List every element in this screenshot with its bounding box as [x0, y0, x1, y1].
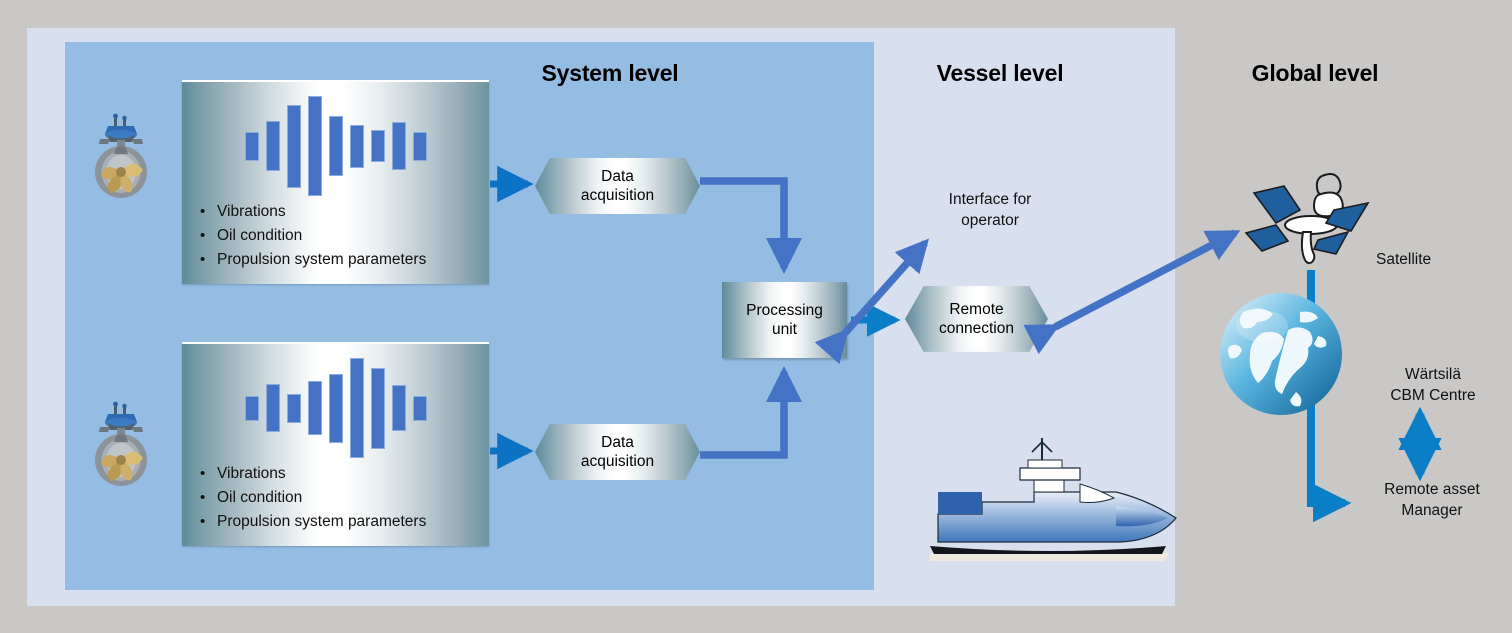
list-item: •Vibrations: [200, 200, 480, 224]
waveform-bar: [308, 381, 322, 435]
list-item: •Vibrations: [200, 462, 480, 486]
list-item-label: Propulsion system parameters: [217, 248, 426, 272]
bullet-icon: •: [200, 463, 217, 486]
list-item: •Oil condition: [200, 224, 480, 248]
list-item: •Propulsion system parameters: [200, 248, 480, 272]
diagram-canvas: System level Vessel level Global level •…: [0, 0, 1512, 633]
waveform-chart-lower: [182, 358, 489, 458]
sensor-box-lower: •Vibrations•Oil condition•Propulsion sys…: [182, 342, 489, 546]
waveform-bar: [245, 132, 259, 161]
list-item-label: Oil condition: [217, 486, 302, 510]
waveform-bar: [287, 105, 301, 188]
thruster-icon: [86, 400, 156, 490]
bullet-icon: •: [200, 201, 217, 224]
waveform-bar: [287, 394, 301, 423]
remote-asset-manager-label: Remote asset Manager: [1352, 480, 1512, 522]
vessel-level-title: Vessel level: [870, 60, 1130, 87]
processing-unit-node[interactable]: Processing unit: [722, 282, 847, 358]
interface-for-operator-label: Interface for operator: [895, 190, 1085, 232]
list-item-label: Oil condition: [217, 224, 302, 248]
remote-connection-node[interactable]: Remote connection: [905, 284, 1048, 354]
sensor-parameter-list-upper: •Vibrations•Oil condition•Propulsion sys…: [200, 200, 480, 271]
thruster-icon: [86, 112, 156, 202]
waveform-bar: [392, 122, 406, 170]
satellite-label: Satellite: [1376, 250, 1486, 271]
global-level-title: Global level: [1180, 60, 1450, 87]
waveform-bar: [308, 96, 322, 196]
waveform-bar: [413, 132, 427, 161]
waveform-chart-upper: [182, 96, 489, 196]
waveform-bar: [413, 396, 427, 421]
system-level-title: System level: [470, 60, 750, 87]
waveform-bar: [392, 385, 406, 431]
list-item: •Oil condition: [200, 486, 480, 510]
waveform-bar: [329, 374, 343, 443]
waveform-bar: [350, 125, 364, 168]
cbm-centre-label: Wärtsilä CBM Centre: [1358, 365, 1508, 407]
list-item-label: Vibrations: [217, 462, 286, 486]
sensor-box-upper: •Vibrations•Oil condition•Propulsion sys…: [182, 80, 489, 284]
sensor-parameter-list-lower: •Vibrations•Oil condition•Propulsion sys…: [200, 462, 480, 533]
satellite-icon: [1246, 174, 1368, 263]
globe-icon: [1220, 293, 1342, 415]
waveform-bar: [266, 121, 280, 171]
waveform-bar: [371, 368, 385, 449]
data-acquisition-node-upper[interactable]: Data acquisition: [535, 158, 700, 214]
bullet-icon: •: [200, 249, 217, 272]
bullet-icon: •: [200, 511, 217, 534]
list-item-label: Vibrations: [217, 200, 286, 224]
waveform-bar: [329, 116, 343, 176]
data-acquisition-node-lower[interactable]: Data acquisition: [535, 424, 700, 480]
waveform-bar: [350, 358, 364, 458]
list-item-label: Propulsion system parameters: [217, 510, 426, 534]
waveform-bar: [371, 130, 385, 162]
waveform-bar: [245, 396, 259, 421]
list-item: •Propulsion system parameters: [200, 510, 480, 534]
arrow-satellite-to-remote-asset-manager: [1311, 270, 1345, 503]
bullet-icon: •: [200, 225, 217, 248]
bullet-icon: •: [200, 487, 217, 510]
waveform-bar: [266, 384, 280, 432]
